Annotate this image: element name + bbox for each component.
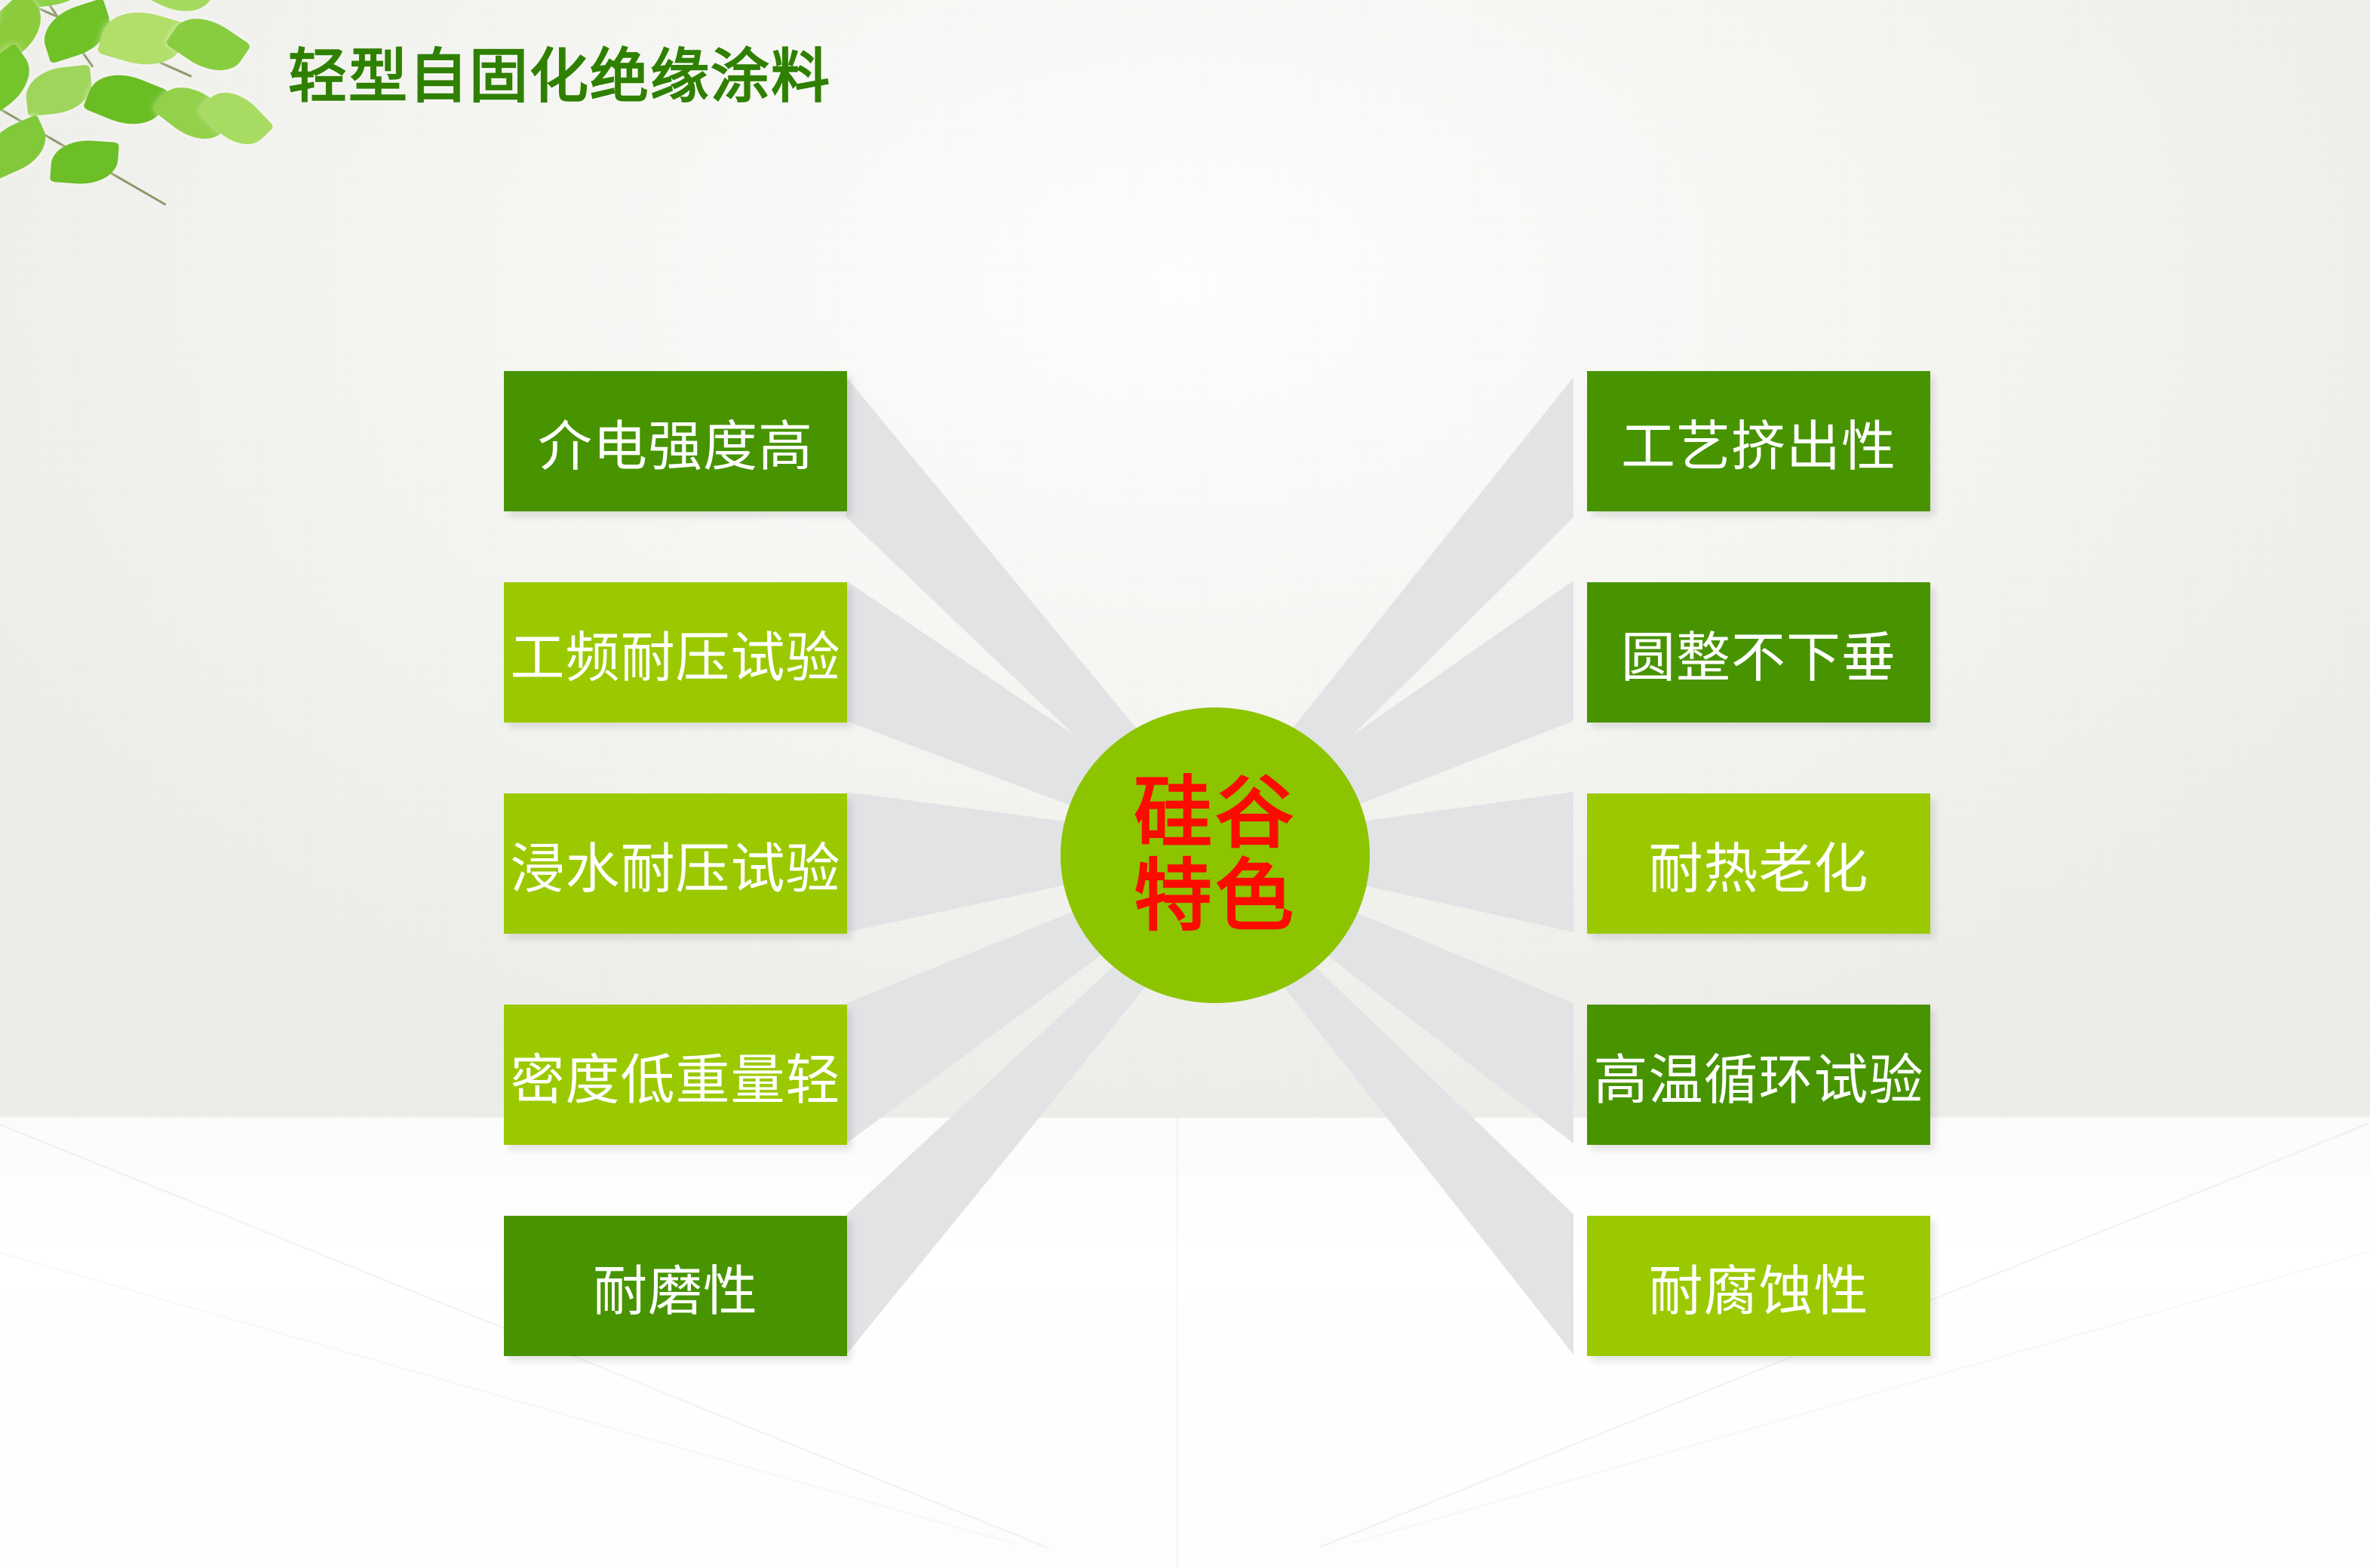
feature-box-right-5[interactable]: 耐腐蚀性 — [1587, 1216, 1930, 1356]
feature-label: 高温循环试验 — [1593, 1036, 1923, 1115]
feature-label: 工艺挤出性 — [1621, 402, 1896, 481]
slide-canvas: 轻型自固化绝缘涂料 硅谷 特色 介电强度高 工频耐压试验 浸水耐压试验 密度低重… — [0, 0, 2370, 1568]
feature-box-right-2[interactable]: 圆整不下垂 — [1587, 582, 1930, 723]
feature-label: 浸水耐压试验 — [510, 824, 840, 904]
feature-box-left-1[interactable]: 介电强度高 — [504, 371, 847, 511]
feature-label: 工频耐压试验 — [510, 613, 840, 692]
feature-box-left-3[interactable]: 浸水耐压试验 — [504, 793, 847, 934]
center-hub: 硅谷 特色 — [1061, 707, 1370, 1003]
feature-box-right-1[interactable]: 工艺挤出性 — [1587, 371, 1930, 511]
feature-box-left-4[interactable]: 密度低重量轻 — [504, 1005, 847, 1145]
feature-label: 耐热老化 — [1648, 824, 1868, 904]
feature-box-right-3[interactable]: 耐热老化 — [1587, 793, 1930, 934]
feature-label: 耐腐蚀性 — [1648, 1247, 1868, 1326]
feature-box-left-5[interactable]: 耐磨性 — [504, 1216, 847, 1356]
feature-label: 密度低重量轻 — [510, 1036, 840, 1115]
hub-line-2: 特色 — [1134, 855, 1297, 938]
feature-label: 圆整不下垂 — [1621, 613, 1896, 692]
hub-line-1: 硅谷 — [1134, 772, 1297, 855]
feature-box-right-4[interactable]: 高温循环试验 — [1587, 1005, 1930, 1145]
feature-label: 介电强度高 — [538, 402, 813, 481]
feature-box-left-2[interactable]: 工频耐压试验 — [504, 582, 847, 723]
feature-label: 耐磨性 — [593, 1247, 758, 1326]
